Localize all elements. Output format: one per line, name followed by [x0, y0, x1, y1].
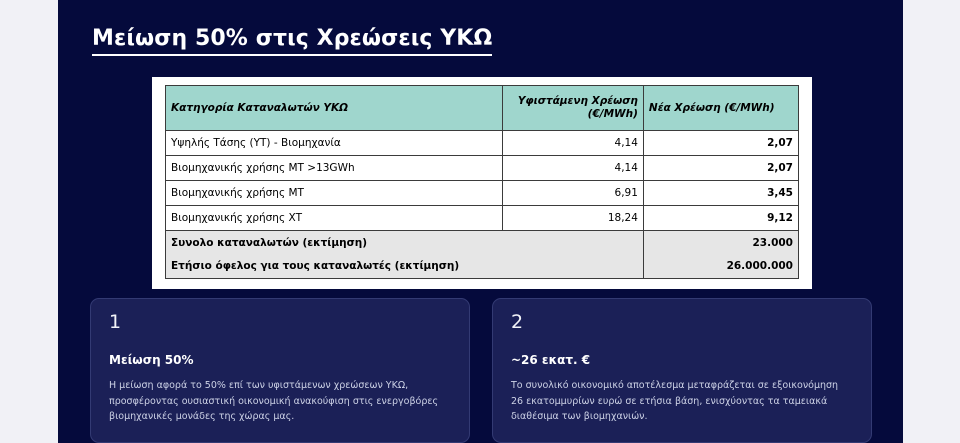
cell-existing-charge: 18,24 [502, 206, 643, 231]
summary-label: Ετήσιο όφελος για τους καταναλωτές (εκτί… [166, 255, 644, 279]
cell-category: Βιομηχανικής χρήσης ΜΤ >13GWh [166, 156, 503, 181]
cell-new-charge: 3,45 [643, 181, 798, 206]
cell-category: Βιομηχανικής χρήσης ΜΤ [166, 181, 503, 206]
cell-new-charge: 9,12 [643, 206, 798, 231]
cell-new-charge: 2,07 [643, 156, 798, 181]
table-row: Υψηλής Τάσης (ΥΤ) - Βιομηχανία 4,14 2,07 [166, 131, 799, 156]
column-header-existing-charge: Υφιστάμενη Χρέωση (€/MWh) [502, 86, 643, 131]
slide-canvas: Μείωση 50% στις Χρεώσεις ΥΚΩ Κατηγορία Κ… [58, 0, 903, 443]
ydk-charges-table: Κατηγορία Καταναλωτών ΥΚΩ Υφιστάμενη Χρέ… [165, 85, 799, 279]
table-row: Βιομηχανικής χρήσης ΧΤ 18,24 9,12 [166, 206, 799, 231]
summary-value: 26.000.000 [643, 255, 798, 279]
column-header-new-charge: Νέα Χρέωση (€/MWh) [643, 86, 798, 131]
card-heading: ~26 εκατ. € [511, 353, 853, 367]
card-body: Η μείωση αφορά το 50% επί των υφιστάμενω… [109, 378, 451, 424]
cell-category: Βιομηχανικής χρήσης ΧΤ [166, 206, 503, 231]
cell-existing-charge: 6,91 [502, 181, 643, 206]
card-number: 2 [511, 313, 853, 332]
summary-label: Συνολο καταναλωτών (εκτίμηση) [166, 231, 644, 255]
table-header-row: Κατηγορία Καταναλωτών ΥΚΩ Υφιστάμενη Χρέ… [166, 86, 799, 131]
table-summary-row: Συνολο καταναλωτών (εκτίμηση) 23.000 [166, 231, 799, 255]
cell-new-charge: 2,07 [643, 131, 798, 156]
highlight-cards: 1 Μείωση 50% Η μείωση αφορά το 50% επί τ… [90, 298, 872, 443]
table-row: Βιομηχανικής χρήσης ΜΤ 6,91 3,45 [166, 181, 799, 206]
highlight-card-1: 1 Μείωση 50% Η μείωση αφορά το 50% επί τ… [90, 298, 470, 443]
table-summary-row: Ετήσιο όφελος για τους καταναλωτές (εκτί… [166, 255, 799, 279]
cell-category: Υψηλής Τάσης (ΥΤ) - Βιομηχανία [166, 131, 503, 156]
card-number: 1 [109, 313, 451, 332]
summary-value: 23.000 [643, 231, 798, 255]
card-body: Το συνολικό οικονομικό αποτέλεσμα μεταφρ… [511, 378, 853, 424]
table-row: Βιομηχανικής χρήσης ΜΤ >13GWh 4,14 2,07 [166, 156, 799, 181]
card-heading: Μείωση 50% [109, 353, 451, 367]
column-header-category: Κατηγορία Καταναλωτών ΥΚΩ [166, 86, 503, 131]
cell-existing-charge: 4,14 [502, 131, 643, 156]
highlight-card-2: 2 ~26 εκατ. € Το συνολικό οικονομικό απο… [492, 298, 872, 443]
table-container: Κατηγορία Καταναλωτών ΥΚΩ Υφιστάμενη Χρέ… [152, 77, 812, 289]
page-title: Μείωση 50% στις Χρεώσεις ΥΚΩ [92, 27, 492, 56]
cell-existing-charge: 4,14 [502, 156, 643, 181]
